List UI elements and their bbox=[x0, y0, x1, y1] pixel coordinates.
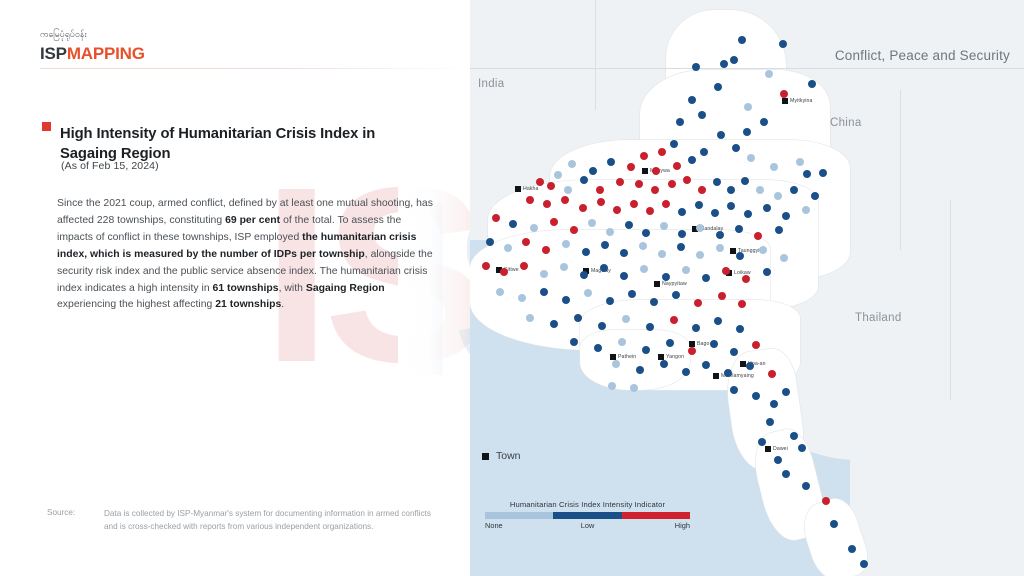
body-emphasis: 21 townships bbox=[215, 299, 281, 310]
township-point[interactable] bbox=[730, 56, 738, 64]
township-point[interactable] bbox=[672, 291, 680, 299]
source-label: Source: bbox=[47, 508, 94, 533]
logo-divider bbox=[40, 68, 470, 69]
township-point[interactable] bbox=[646, 323, 654, 331]
township-point[interactable] bbox=[763, 204, 771, 212]
township-point[interactable] bbox=[500, 268, 508, 276]
header-divider bbox=[430, 68, 1024, 69]
township-point[interactable] bbox=[760, 118, 768, 126]
township-point[interactable] bbox=[526, 314, 534, 322]
township-point[interactable] bbox=[579, 204, 587, 212]
township-point[interactable] bbox=[727, 186, 735, 194]
township-point[interactable] bbox=[682, 266, 690, 274]
township-point[interactable] bbox=[542, 246, 550, 254]
township-point[interactable] bbox=[482, 262, 490, 270]
country-label-thailand: Thailand bbox=[855, 312, 902, 324]
township-point[interactable] bbox=[530, 224, 538, 232]
town-marker-monywa[interactable] bbox=[642, 168, 648, 174]
township-point[interactable] bbox=[720, 60, 728, 68]
township-point[interactable] bbox=[683, 176, 691, 184]
township-point[interactable] bbox=[716, 244, 724, 252]
township-point[interactable] bbox=[550, 320, 558, 328]
legend-segment-high bbox=[622, 512, 690, 519]
township-point[interactable] bbox=[630, 384, 638, 392]
town-marker-naypyitaw[interactable] bbox=[654, 281, 660, 287]
township-point[interactable] bbox=[550, 218, 558, 226]
township-point[interactable] bbox=[692, 324, 700, 332]
township-point[interactable] bbox=[811, 192, 819, 200]
township-point[interactable] bbox=[688, 96, 696, 104]
headline-bullet-icon bbox=[42, 122, 51, 131]
township-point[interactable] bbox=[588, 219, 596, 227]
border-india bbox=[595, 0, 596, 110]
township-point[interactable] bbox=[509, 220, 517, 228]
brand-mapping-text: MAPPING bbox=[67, 44, 145, 63]
body-emphasis: 61 townships bbox=[213, 283, 279, 294]
township-point[interactable] bbox=[736, 325, 744, 333]
town-label-hakha: Hakha bbox=[523, 186, 539, 192]
town-label-bago: Bago bbox=[697, 341, 710, 347]
township-point[interactable] bbox=[780, 254, 788, 262]
legend-intensity-scale: Humanitarian Crisis Index Intensity Indi… bbox=[485, 500, 690, 530]
township-point[interactable] bbox=[526, 196, 534, 204]
township-point[interactable] bbox=[738, 300, 746, 308]
body-emphasis: Sagaing Region bbox=[306, 283, 385, 294]
township-point[interactable] bbox=[620, 249, 628, 257]
town-marker-myitkyina[interactable] bbox=[782, 98, 788, 104]
township-point[interactable] bbox=[642, 346, 650, 354]
township-point[interactable] bbox=[747, 154, 755, 162]
township-point[interactable] bbox=[636, 366, 644, 374]
brand-wordmark: ISPMAPPING bbox=[40, 44, 145, 64]
body-text: experiencing the highest affecting bbox=[57, 299, 215, 310]
township-point[interactable] bbox=[759, 246, 767, 254]
township-point[interactable] bbox=[580, 271, 588, 279]
township-point[interactable] bbox=[504, 244, 512, 252]
township-point[interactable] bbox=[732, 144, 740, 152]
township-point[interactable] bbox=[574, 314, 582, 322]
township-point[interactable] bbox=[822, 497, 830, 505]
country-label-india: India bbox=[478, 78, 504, 90]
township-point[interactable] bbox=[774, 456, 782, 464]
infographic-canvas: Conflict, Peace and Security IndiaChinaT… bbox=[0, 0, 1024, 576]
township-point[interactable] bbox=[746, 362, 754, 370]
township-point[interactable] bbox=[594, 344, 602, 352]
township-point[interactable] bbox=[716, 231, 724, 239]
town-label-myitkyina: Myitkyina bbox=[790, 98, 813, 104]
legend-tick-labels: None Low High bbox=[485, 521, 690, 530]
township-point[interactable] bbox=[640, 152, 648, 160]
township-point[interactable] bbox=[589, 167, 597, 175]
town-marker-dawei[interactable] bbox=[765, 446, 771, 452]
border-thailand bbox=[950, 200, 951, 400]
township-point[interactable] bbox=[730, 386, 738, 394]
township-point[interactable] bbox=[554, 171, 562, 179]
brand-burmese-text: ကမြေပုံရုပ်ဝန်း bbox=[40, 30, 145, 42]
township-point[interactable] bbox=[601, 241, 609, 249]
town-marker-hakha[interactable] bbox=[515, 186, 521, 192]
township-point[interactable] bbox=[819, 169, 827, 177]
township-point[interactable] bbox=[678, 208, 686, 216]
township-point[interactable] bbox=[682, 368, 690, 376]
township-point[interactable] bbox=[698, 111, 706, 119]
township-point[interactable] bbox=[670, 316, 678, 324]
township-point[interactable] bbox=[714, 317, 722, 325]
township-point[interactable] bbox=[518, 294, 526, 302]
township-point[interactable] bbox=[564, 186, 572, 194]
town-marker-icon bbox=[482, 453, 489, 460]
township-point[interactable] bbox=[702, 274, 710, 282]
township-point[interactable] bbox=[622, 315, 630, 323]
township-point[interactable] bbox=[620, 272, 628, 280]
township-point[interactable] bbox=[744, 210, 752, 218]
country-label-china: China bbox=[830, 117, 862, 129]
township-point[interactable] bbox=[613, 206, 621, 214]
township-point[interactable] bbox=[848, 545, 856, 553]
township-point[interactable] bbox=[738, 36, 746, 44]
township-point[interactable] bbox=[666, 339, 674, 347]
township-point[interactable] bbox=[580, 176, 588, 184]
township-point[interactable] bbox=[860, 560, 868, 568]
township-point[interactable] bbox=[830, 520, 838, 528]
township-point[interactable] bbox=[606, 297, 614, 305]
township-point[interactable] bbox=[606, 228, 614, 236]
township-point[interactable] bbox=[676, 118, 684, 126]
township-point[interactable] bbox=[790, 432, 798, 440]
township-point[interactable] bbox=[782, 470, 790, 478]
township-point[interactable] bbox=[639, 242, 647, 250]
township-point[interactable] bbox=[522, 238, 530, 246]
township-point[interactable] bbox=[774, 192, 782, 200]
township-point[interactable] bbox=[775, 226, 783, 234]
township-point[interactable] bbox=[678, 230, 686, 238]
township-point[interactable] bbox=[496, 288, 504, 296]
township-point[interactable] bbox=[660, 222, 668, 230]
legend-town-label: Town bbox=[496, 450, 521, 462]
land-thailand-south bbox=[850, 330, 1024, 576]
township-point[interactable] bbox=[536, 178, 544, 186]
township-point[interactable] bbox=[727, 202, 735, 210]
township-point[interactable] bbox=[584, 289, 592, 297]
township-point[interactable] bbox=[547, 182, 555, 190]
township-point[interactable] bbox=[730, 348, 738, 356]
township-point[interactable] bbox=[713, 178, 721, 186]
township-point[interactable] bbox=[668, 180, 676, 188]
legend-tick-low: Low bbox=[553, 521, 622, 530]
township-point[interactable] bbox=[658, 148, 666, 156]
township-point[interactable] bbox=[717, 131, 725, 139]
township-point[interactable] bbox=[540, 270, 548, 278]
township-point[interactable] bbox=[640, 265, 648, 273]
township-point[interactable] bbox=[642, 229, 650, 237]
township-point[interactable] bbox=[744, 103, 752, 111]
township-point[interactable] bbox=[696, 224, 704, 232]
township-point[interactable] bbox=[758, 438, 766, 446]
township-point[interactable] bbox=[570, 226, 578, 234]
township-point[interactable] bbox=[688, 156, 696, 164]
township-point[interactable] bbox=[520, 262, 528, 270]
township-point[interactable] bbox=[710, 340, 718, 348]
legend-color-bar bbox=[485, 512, 690, 519]
township-point[interactable] bbox=[562, 240, 570, 248]
township-point[interactable] bbox=[803, 170, 811, 178]
body-emphasis: 69 per cent bbox=[225, 215, 280, 226]
township-point[interactable] bbox=[756, 186, 764, 194]
township-point[interactable] bbox=[543, 200, 551, 208]
township-point[interactable] bbox=[560, 263, 568, 271]
town-marker-mawlamyaing[interactable] bbox=[713, 373, 719, 379]
township-point[interactable] bbox=[743, 128, 751, 136]
township-point[interactable] bbox=[646, 207, 654, 215]
township-point[interactable] bbox=[660, 360, 668, 368]
township-point[interactable] bbox=[752, 341, 760, 349]
township-point[interactable] bbox=[673, 162, 681, 170]
myanmar-ayeyarwady bbox=[580, 330, 690, 390]
as-of-date: (As of Feb 15, 2024) bbox=[61, 160, 159, 172]
town-label-pathein: Pathein bbox=[618, 354, 636, 360]
township-point[interactable] bbox=[662, 273, 670, 281]
brand-isp-text: ISP bbox=[40, 44, 67, 63]
township-point[interactable] bbox=[702, 361, 710, 369]
township-point[interactable] bbox=[752, 392, 760, 400]
township-point[interactable] bbox=[598, 322, 606, 330]
body-text: . bbox=[281, 299, 284, 310]
page-title: High Intensity of Humanitarian Crisis In… bbox=[60, 125, 412, 164]
township-point[interactable] bbox=[596, 186, 604, 194]
township-point[interactable] bbox=[627, 163, 635, 171]
town-label-yangon: Yangon bbox=[666, 354, 684, 360]
township-point[interactable] bbox=[724, 369, 732, 377]
township-point[interactable] bbox=[600, 264, 608, 272]
body-text: , with bbox=[279, 283, 306, 294]
township-point[interactable] bbox=[582, 248, 590, 256]
township-point[interactable] bbox=[802, 482, 810, 490]
township-point[interactable] bbox=[765, 70, 773, 78]
township-point[interactable] bbox=[741, 177, 749, 185]
township-point[interactable] bbox=[568, 160, 576, 168]
township-point[interactable] bbox=[768, 370, 776, 378]
town-marker-taunggyi[interactable] bbox=[730, 248, 736, 254]
township-point[interactable] bbox=[700, 148, 708, 156]
township-point[interactable] bbox=[722, 267, 730, 275]
township-point[interactable] bbox=[770, 163, 778, 171]
township-point[interactable] bbox=[698, 186, 706, 194]
township-point[interactable] bbox=[608, 382, 616, 390]
township-point[interactable] bbox=[695, 201, 703, 209]
township-point[interactable] bbox=[670, 140, 678, 148]
township-point[interactable] bbox=[635, 180, 643, 188]
legend-town-entry: Town bbox=[482, 450, 521, 462]
legend-tick-none: None bbox=[485, 521, 553, 530]
township-point[interactable] bbox=[597, 198, 605, 206]
township-point[interactable] bbox=[492, 214, 500, 222]
legend-segment-low bbox=[553, 512, 622, 519]
article-body: Since the 2021 coup, armed conflict, def… bbox=[57, 196, 433, 314]
township-point[interactable] bbox=[808, 80, 816, 88]
township-point[interactable] bbox=[736, 252, 744, 260]
source-text: Data is collected by ISP-Myanmar's syste… bbox=[104, 508, 434, 533]
source-block: Source: Data is collected by ISP-Myanmar… bbox=[47, 508, 447, 533]
township-point[interactable] bbox=[616, 178, 624, 186]
township-point[interactable] bbox=[780, 90, 788, 98]
township-point[interactable] bbox=[782, 388, 790, 396]
township-point[interactable] bbox=[561, 196, 569, 204]
legend-tick-high: High bbox=[622, 521, 690, 530]
township-point[interactable] bbox=[798, 444, 806, 452]
township-point[interactable] bbox=[630, 200, 638, 208]
township-point[interactable] bbox=[754, 232, 762, 240]
township-point[interactable] bbox=[711, 209, 719, 217]
article-panel: ISP ISP ကမြေပုံရုပ်ဝန်း ISPMAPPING High … bbox=[0, 0, 470, 576]
township-point[interactable] bbox=[763, 268, 771, 276]
township-point[interactable] bbox=[677, 243, 685, 251]
township-point[interactable] bbox=[790, 186, 798, 194]
township-point[interactable] bbox=[658, 250, 666, 258]
section-title: Conflict, Peace and Security bbox=[835, 48, 1010, 63]
border-china bbox=[900, 90, 901, 250]
township-point[interactable] bbox=[766, 418, 774, 426]
township-point[interactable] bbox=[696, 251, 704, 259]
township-point[interactable] bbox=[540, 288, 548, 296]
township-point[interactable] bbox=[652, 167, 660, 175]
legend-caption: Humanitarian Crisis Index Intensity Indi… bbox=[485, 500, 690, 509]
township-point[interactable] bbox=[607, 158, 615, 166]
township-point[interactable] bbox=[570, 338, 578, 346]
township-point[interactable] bbox=[779, 40, 787, 48]
township-point[interactable] bbox=[692, 63, 700, 71]
township-point[interactable] bbox=[688, 347, 696, 355]
brand-logo[interactable]: ကမြေပုံရုပ်ဝန်း ISPMAPPING bbox=[40, 30, 145, 64]
town-label-naypyitaw: Naypyitaw bbox=[662, 281, 687, 287]
township-point[interactable] bbox=[662, 200, 670, 208]
township-point[interactable] bbox=[562, 296, 570, 304]
township-point[interactable] bbox=[735, 225, 743, 233]
township-point[interactable] bbox=[486, 238, 494, 246]
township-point[interactable] bbox=[618, 338, 626, 346]
township-point[interactable] bbox=[796, 158, 804, 166]
township-point[interactable] bbox=[782, 212, 790, 220]
township-point[interactable] bbox=[742, 275, 750, 283]
township-point[interactable] bbox=[802, 206, 810, 214]
township-point[interactable] bbox=[625, 221, 633, 229]
township-point[interactable] bbox=[650, 298, 658, 306]
legend-segment-none bbox=[485, 512, 553, 519]
township-point[interactable] bbox=[651, 186, 659, 194]
township-point[interactable] bbox=[628, 290, 636, 298]
township-point[interactable] bbox=[770, 400, 778, 408]
township-point[interactable] bbox=[612, 360, 620, 368]
town-label-dawei: Dawei bbox=[773, 446, 788, 452]
township-point[interactable] bbox=[714, 83, 722, 91]
map-panel[interactable]: Conflict, Peace and Security IndiaChinaT… bbox=[430, 0, 1024, 576]
township-point[interactable] bbox=[718, 292, 726, 300]
township-point[interactable] bbox=[694, 299, 702, 307]
